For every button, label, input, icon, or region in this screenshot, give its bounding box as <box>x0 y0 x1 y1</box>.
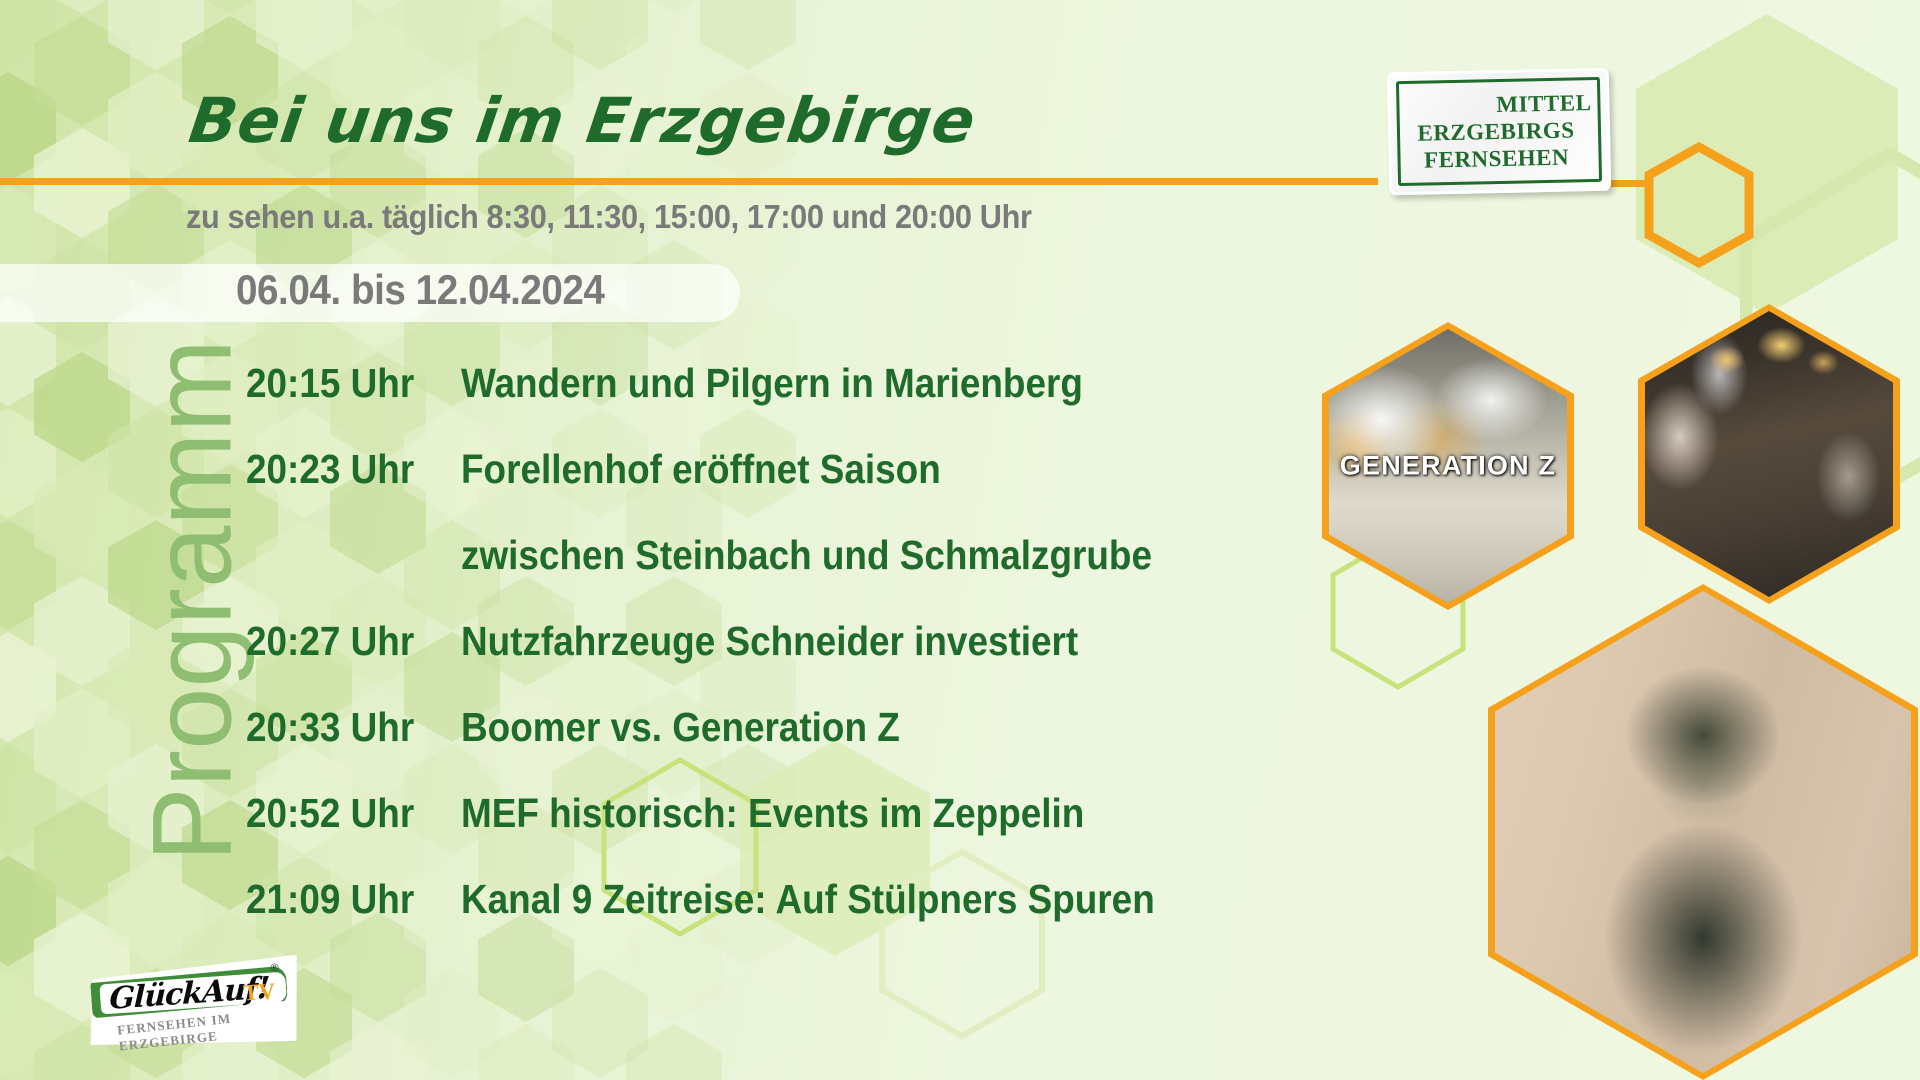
honeycomb-cell <box>0 0 56 70</box>
honeycomb-cell <box>34 16 130 126</box>
honeycomb-cell <box>34 800 130 910</box>
honeycomb-cell <box>478 1024 574 1080</box>
decorative-hexagon-large-right <box>1636 14 1898 314</box>
mef-station-logo: MITTEL ERZGEBIRGS FERNSEHEN <box>1387 68 1612 196</box>
glueckauf-tv-logo: GlückAuf! TV ® FERNSEHEN IM ERZGEBIRGE <box>85 955 302 1056</box>
schedule-row-title: Wandern und Pilgern in Marienberg <box>461 360 1083 407</box>
honeycomb-cell <box>0 632 56 742</box>
schedule-row: 20:52 UhrMEF historisch: Events im Zeppe… <box>246 790 1366 876</box>
schedule-row-time: 20:27 Uhr <box>246 618 440 665</box>
schedule-row-continuation: zwischen Steinbach und Schmalzgrube <box>246 532 1366 618</box>
schedule-row-title: Nutzfahrzeuge Schneider investiert <box>461 618 1078 665</box>
honeycomb-cell <box>700 0 796 70</box>
honeycomb-cell <box>626 0 722 14</box>
honeycomb-cell <box>552 968 648 1078</box>
honeycomb-cell <box>34 0 130 14</box>
honeycomb-cell <box>330 1024 426 1080</box>
mef-logo-line-2: ERZGEBIRGS <box>1417 116 1575 146</box>
schedule-row: 20:23 UhrForellenhof eröffnet Saison <box>246 446 1366 532</box>
honeycomb-cell <box>182 0 278 14</box>
schedule-row: 20:33 UhrBoomer vs. Generation Z <box>246 704 1366 790</box>
program-schedule-slide: Bei uns im Erzgebirge zu sehen u.a. tägl… <box>0 0 1920 1080</box>
schedule-row: 21:09 UhrKanal 9 Zeitreise: Auf Stülpner… <box>246 876 1366 962</box>
honeycomb-cell <box>108 0 204 70</box>
stuelpner-portrait-photo <box>1488 584 1918 1080</box>
vertical-programm-label: Programm <box>128 221 257 981</box>
schedule-row: 20:15 UhrWandern und Pilgern in Marienbe… <box>246 360 1366 446</box>
schedule-row-title: Forellenhof eröffnet Saison <box>461 446 941 493</box>
schedule-row-time: 20:33 Uhr <box>246 704 440 751</box>
date-range-text: 06.04. bis 12.04.2024 <box>236 266 604 314</box>
schedule-row-time: 20:23 Uhr <box>246 446 440 493</box>
honeycomb-cell <box>34 464 130 574</box>
honeycomb-cell <box>34 576 130 686</box>
schedule-row-time: 21:09 Uhr <box>246 876 440 923</box>
honeycomb-cell <box>34 352 130 462</box>
honeycomb-cell <box>0 72 56 182</box>
mef-logo-line-1: MITTEL <box>1496 89 1592 118</box>
honeycomb-cell <box>0 408 56 518</box>
glueckauf-logo-tv: TV <box>242 978 276 1006</box>
schedule-row-continuation-title: zwischen Steinbach und Schmalzgrube <box>461 532 1152 579</box>
schedule-row-title: Boomer vs. Generation Z <box>461 704 900 751</box>
honeycomb-cell <box>330 0 426 14</box>
honeycomb-cell <box>478 0 574 14</box>
schedule-row-time: 20:52 Uhr <box>246 790 440 837</box>
honeycomb-cell <box>700 968 796 1078</box>
honeycomb-cell <box>0 968 56 1078</box>
schedule-row-title: MEF historisch: Events im Zeppelin <box>461 790 1084 837</box>
airtimes-text: zu sehen u.a. täglich 8:30, 11:30, 15:00… <box>186 198 1032 236</box>
honeycomb-cell <box>34 688 130 798</box>
restaurant-photo <box>1638 304 1900 604</box>
honeycomb-cell <box>626 1024 722 1080</box>
honeycomb-cell <box>0 856 56 966</box>
schedule-row-title: Kanal 9 Zeitreise: Auf Stülpners Spuren <box>461 876 1155 923</box>
mef-logo-line-3: FERNSEHEN <box>1424 144 1570 174</box>
schedule-row-time: 20:15 Uhr <box>246 360 440 407</box>
honeycomb-cell <box>0 520 56 630</box>
orange-hexagon-outline-header <box>1644 142 1754 268</box>
honeycomb-cell <box>404 968 500 1078</box>
header-divider-rule <box>0 178 1378 185</box>
generation-z-caption: GENERATION Z <box>1340 451 1556 482</box>
honeycomb-cell <box>404 0 500 70</box>
registered-trademark-icon: ® <box>270 962 279 975</box>
honeycomb-cell <box>552 0 648 70</box>
honeycomb-cell <box>0 744 56 854</box>
schedule-row: 20:27 UhrNutzfahrzeuge Schneider investi… <box>246 618 1366 704</box>
schedule-list: 20:15 UhrWandern und Pilgern in Marienbe… <box>246 360 1366 962</box>
honeycomb-cell <box>256 0 352 70</box>
show-title: Bei uns im Erzgebirge <box>185 84 981 157</box>
